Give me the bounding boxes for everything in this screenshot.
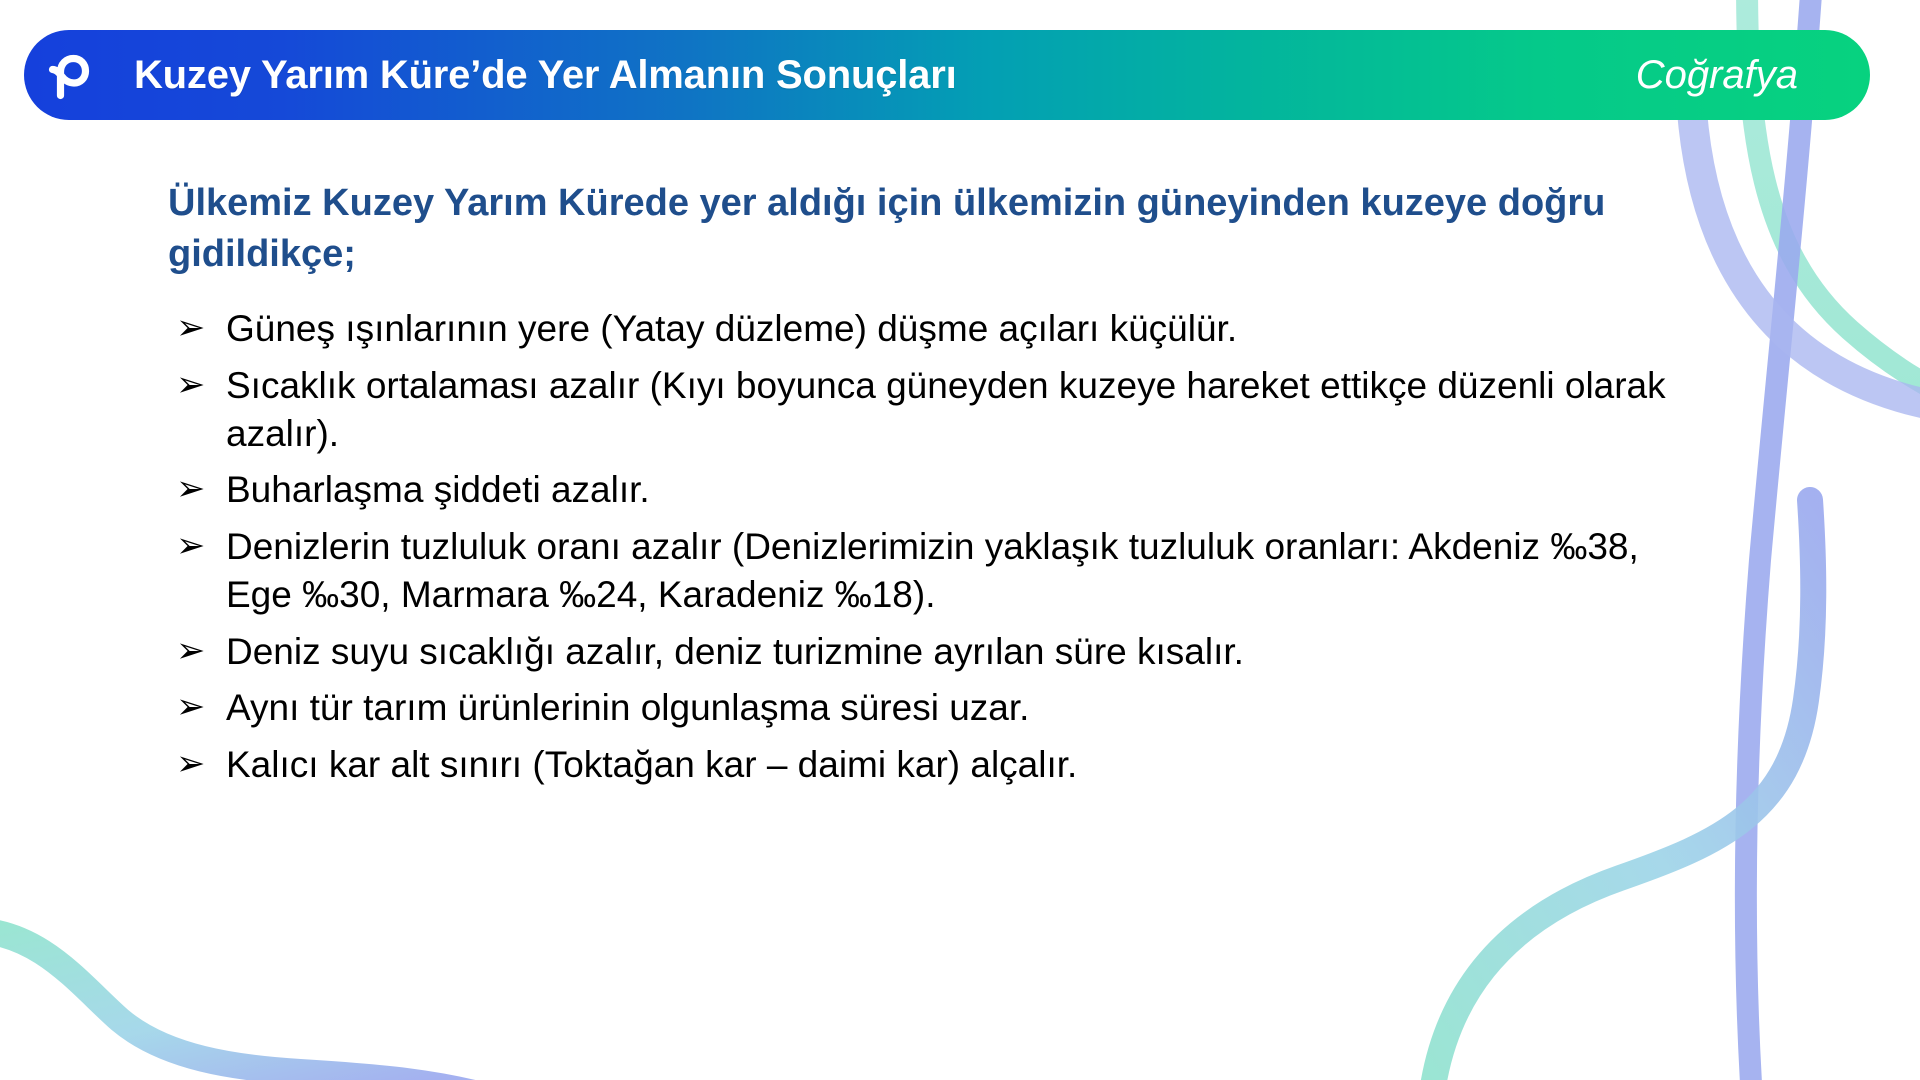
list-item-label: Kalıcı kar alt sınırı (Toktağan kar – da… bbox=[226, 741, 1706, 789]
subject-label: Coğrafya bbox=[1636, 53, 1798, 98]
arrow-bullet-icon: ➢ bbox=[168, 684, 226, 730]
slide-header-bar: Kuzey Yarım Küre’de Yer Almanın Sonuçlar… bbox=[24, 30, 1870, 120]
list-item: ➢ Buharlaşma şiddeti azalır. bbox=[168, 466, 1768, 514]
slide-canvas: Kuzey Yarım Küre’de Yer Almanın Sonuçlar… bbox=[0, 0, 1920, 1080]
arrow-bullet-icon: ➢ bbox=[168, 741, 226, 787]
slide-content: Ülkemiz Kuzey Yarım Kürede yer aldığı iç… bbox=[168, 178, 1768, 797]
list-item: ➢ Denizlerin tuzluluk oranı azalır (Deni… bbox=[168, 523, 1768, 620]
list-item: ➢ Aynı tür tarım ürünlerinin olgunlaşma … bbox=[168, 684, 1768, 732]
consequences-list: ➢ Güneş ışınlarının yere (Yatay düzleme)… bbox=[168, 305, 1768, 789]
list-item-label: Güneş ışınlarının yere (Yatay düzleme) d… bbox=[226, 305, 1706, 353]
bottom-left-wave bbox=[0, 930, 500, 1080]
arrow-bullet-icon: ➢ bbox=[168, 305, 226, 351]
arrow-bullet-icon: ➢ bbox=[168, 466, 226, 512]
arrow-bullet-icon: ➢ bbox=[168, 523, 226, 569]
intro-paragraph: Ülkemiz Kuzey Yarım Kürede yer aldığı iç… bbox=[168, 178, 1688, 279]
list-item: ➢ Kalıcı kar alt sınırı (Toktağan kar – … bbox=[168, 741, 1768, 789]
list-item-label: Aynı tür tarım ürünlerinin olgunlaşma sü… bbox=[226, 684, 1706, 732]
list-item: ➢ Sıcaklık ortalaması azalır (Kıyı boyun… bbox=[168, 362, 1768, 459]
list-item: ➢ Güneş ışınlarının yere (Yatay düzleme)… bbox=[168, 305, 1768, 353]
page-title: Kuzey Yarım Küre’de Yer Almanın Sonuçlar… bbox=[134, 53, 1636, 98]
list-item: ➢ Deniz suyu sıcaklığı azalır, deniz tur… bbox=[168, 628, 1768, 676]
arrow-bullet-icon: ➢ bbox=[168, 628, 226, 674]
brand-p-logo-icon bbox=[38, 44, 100, 106]
list-item-label: Buharlaşma şiddeti azalır. bbox=[226, 466, 1706, 514]
list-item-label: Denizlerin tuzluluk oranı azalır (Denizl… bbox=[226, 523, 1706, 620]
arrow-bullet-icon: ➢ bbox=[168, 362, 226, 408]
list-item-label: Deniz suyu sıcaklığı azalır, deniz turiz… bbox=[226, 628, 1706, 676]
list-item-label: Sıcaklık ortalaması azalır (Kıyı boyunca… bbox=[226, 362, 1706, 459]
